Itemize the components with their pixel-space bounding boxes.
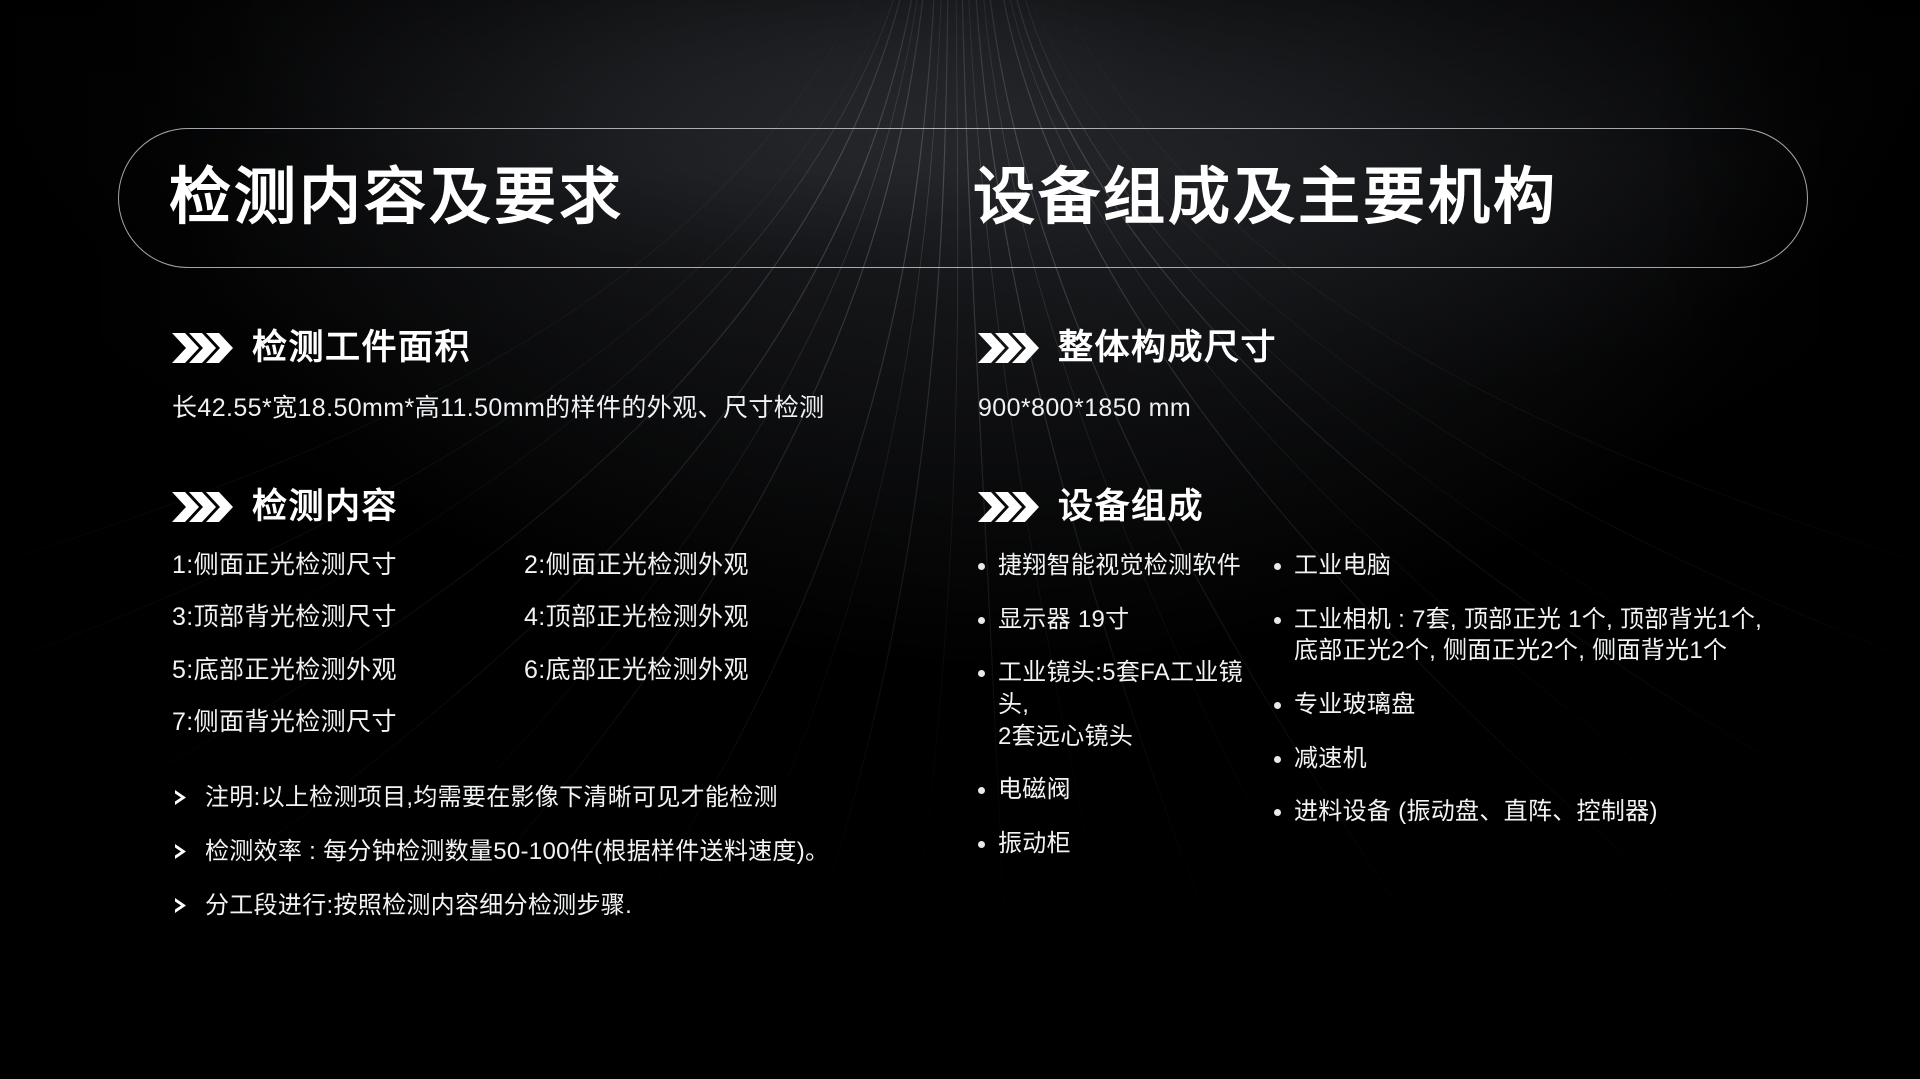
triple-chevron-icon <box>172 492 234 522</box>
list-item: 5:底部正光检测外观 <box>172 655 472 686</box>
page-title-left: 检测内容及要求 <box>169 167 624 229</box>
inspection-items-grid: 1:侧面正光检测尺寸 2:侧面正光检测外观 3:顶部背光检测尺寸 4:顶部正光检… <box>172 550 932 738</box>
note-text: 检测效率 : 每分钟检测数量50-100件(根据样件送料速度)。 <box>205 836 829 867</box>
section-equipment: 设备组成 捷翔智能视觉检测软件 显示器 19寸 <box>978 489 1808 882</box>
bullet-dot-icon <box>1274 563 1281 570</box>
section-overall-size: 整体构成尺寸 900*800*1850 mm <box>978 330 1808 426</box>
note-row: 注明:以上检测项目,均需要在影像下清晰可见才能检测 <box>172 782 932 813</box>
list-item: 4:顶部正光检测外观 <box>524 602 932 633</box>
bullet-dot-icon <box>978 617 985 624</box>
equipment-lists: 捷翔智能视觉检测软件 显示器 19寸 工业镜头:5套FA工业镜头, 2套远心镜头 <box>978 550 1808 882</box>
left-column: 检测工件面积 长42.55*宽18.50mm*高11.50mm的样件的外观、尺寸… <box>172 330 932 945</box>
header-pill-frame: 检测内容及要求 设备组成及主要机构 <box>118 128 1808 268</box>
list-item-label: 振动柜 <box>998 828 1071 860</box>
arrow-right-icon <box>172 890 189 920</box>
bullet-dot-icon <box>1274 702 1281 709</box>
list-item: 专业玻璃盘 <box>1274 689 1794 721</box>
bullet-dot-icon <box>978 787 985 794</box>
section-header: 检测工件面积 <box>172 330 932 365</box>
section-title: 设备组成 <box>1058 489 1204 524</box>
bullet-dot-icon <box>978 563 985 570</box>
note-text: 分工段进行:按照检测内容细分检测步骤. <box>205 890 632 921</box>
list-item: 捷翔智能视觉检测软件 <box>978 550 1274 582</box>
list-item <box>524 707 932 738</box>
list-item: 7:侧面背光检测尺寸 <box>172 707 472 738</box>
list-item: 2:侧面正光检测外观 <box>524 550 932 581</box>
list-item-label: 工业镜头:5套FA工业镜头, 2套远心镜头 <box>998 657 1274 752</box>
section-header: 检测内容 <box>172 489 932 524</box>
bullet-dot-icon <box>978 841 985 848</box>
list-item: 工业相机 : 7套, 顶部正光 1个, 顶部背光1个, 底部正光2个, 侧面正光… <box>1274 604 1794 667</box>
note-text: 注明:以上检测项目,均需要在影像下清晰可见才能检测 <box>205 782 778 813</box>
section-title: 检测工件面积 <box>252 330 471 365</box>
list-item-label: 捷翔智能视觉检测软件 <box>998 550 1241 582</box>
section-inspection-content: 检测内容 1:侧面正光检测尺寸 2:侧面正光检测外观 3:顶部背光检测尺寸 4:… <box>172 489 932 922</box>
triple-chevron-icon <box>978 333 1040 363</box>
list-item: 显示器 19寸 <box>978 604 1274 636</box>
list-item: 工业电脑 <box>1274 550 1794 582</box>
note-row: 分工段进行:按照检测内容细分检测步骤. <box>172 890 932 921</box>
list-item: 振动柜 <box>978 828 1274 860</box>
list-item-label: 进料设备 (振动盘、直阵、控制器) <box>1294 796 1658 828</box>
equipment-list-left: 捷翔智能视觉检测软件 显示器 19寸 工业镜头:5套FA工业镜头, 2套远心镜头 <box>978 550 1274 882</box>
section-inspection-area: 检测工件面积 长42.55*宽18.50mm*高11.50mm的样件的外观、尺寸… <box>172 330 932 426</box>
section-title: 检测内容 <box>252 489 398 524</box>
list-item-label: 工业电脑 <box>1294 550 1391 582</box>
triple-chevron-icon <box>978 492 1040 522</box>
section-header: 整体构成尺寸 <box>978 330 1808 365</box>
list-item: 6:底部正光检测外观 <box>524 655 932 686</box>
list-item: 电磁阀 <box>978 774 1274 806</box>
list-item: 3:顶部背光检测尺寸 <box>172 602 472 633</box>
arrow-right-icon <box>172 836 189 866</box>
inspection-notes: 注明:以上检测项目,均需要在影像下清晰可见才能检测 检测效率 : 每分钟检测数量… <box>172 782 932 922</box>
inspection-area-detail: 长42.55*宽18.50mm*高11.50mm的样件的外观、尺寸检测 <box>172 391 932 426</box>
triple-chevron-icon <box>172 333 234 363</box>
overall-size-detail: 900*800*1850 mm <box>978 391 1808 426</box>
bullet-dot-icon <box>1274 756 1281 763</box>
list-item-label: 专业玻璃盘 <box>1294 689 1416 721</box>
note-row: 检测效率 : 每分钟检测数量50-100件(根据样件送料速度)。 <box>172 836 932 867</box>
arrow-right-icon <box>172 782 189 812</box>
list-item: 减速机 <box>1274 743 1794 775</box>
slide-root: 检测内容及要求 设备组成及主要机构 检测工件面积 长42.55*宽18.50 <box>0 0 1920 1079</box>
right-column: 整体构成尺寸 900*800*1850 mm 设备组成 <box>978 330 1808 882</box>
section-title: 整体构成尺寸 <box>1058 330 1277 365</box>
equipment-list-right: 工业电脑 工业相机 : 7套, 顶部正光 1个, 顶部背光1个, 底部正光2个,… <box>1274 550 1794 882</box>
bullet-dot-icon <box>1274 809 1281 816</box>
list-item-label: 显示器 19寸 <box>998 604 1129 636</box>
list-item-label: 工业相机 : 7套, 顶部正光 1个, 顶部背光1个, 底部正光2个, 侧面正光… <box>1294 604 1762 667</box>
section-header: 设备组成 <box>978 489 1808 524</box>
page-title-right: 设备组成及主要机构 <box>973 167 1558 229</box>
list-item-label: 减速机 <box>1294 743 1367 775</box>
list-item: 1:侧面正光检测尺寸 <box>172 550 472 581</box>
bullet-dot-icon <box>978 670 985 677</box>
list-item-label: 电磁阀 <box>998 774 1071 806</box>
list-item: 工业镜头:5套FA工业镜头, 2套远心镜头 <box>978 657 1274 752</box>
bullet-dot-icon <box>1274 617 1281 624</box>
list-item: 进料设备 (振动盘、直阵、控制器) <box>1274 796 1794 828</box>
